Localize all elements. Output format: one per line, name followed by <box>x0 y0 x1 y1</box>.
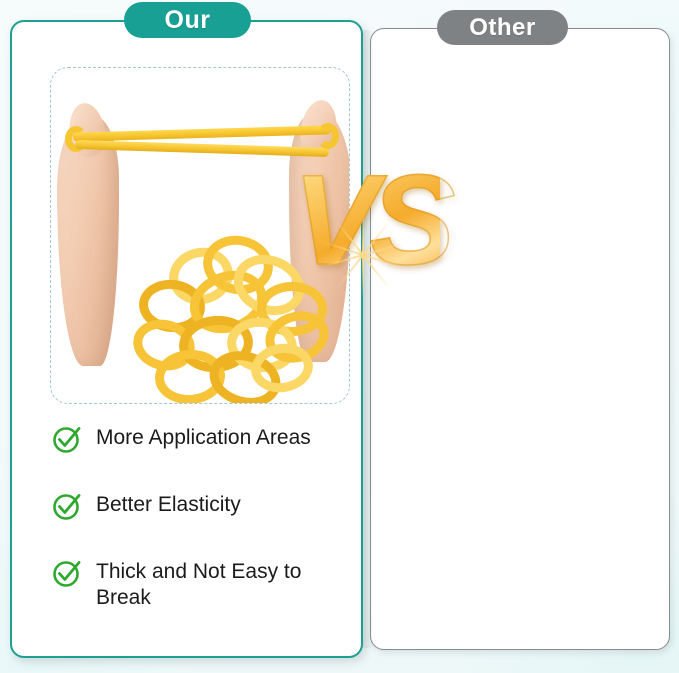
our-feature-row: Thick and Not Easy to Break <box>52 558 352 610</box>
our-feature-label: More Application Areas <box>96 424 311 451</box>
comparison-infographic: More Application AreasBetter ElasticityT… <box>0 0 679 673</box>
our-product-photo <box>50 67 350 404</box>
our-badge: Our <box>124 2 251 38</box>
our-feature-row: More Application Areas <box>52 424 352 454</box>
our-feature-label: Better Elasticity <box>96 491 241 518</box>
our-feature-label: Thick and Not Easy to Break <box>96 558 352 610</box>
other-panel: Small Size,Few UsesPoor ElasticityThin a… <box>370 28 670 650</box>
other-badge: Other <box>437 10 568 45</box>
check-circle-icon <box>52 491 82 521</box>
our-feature-list: More Application AreasBetter ElasticityT… <box>52 424 352 610</box>
band-loop-right <box>317 123 339 149</box>
our-feature-row: Better Elasticity <box>52 491 352 521</box>
check-circle-icon <box>52 424 82 454</box>
our-panel: More Application AreasBetter ElasticityT… <box>10 20 363 658</box>
check-circle-icon <box>52 558 82 588</box>
our-badge-label: Our <box>165 6 211 35</box>
other-badge-label: Other <box>469 14 536 42</box>
